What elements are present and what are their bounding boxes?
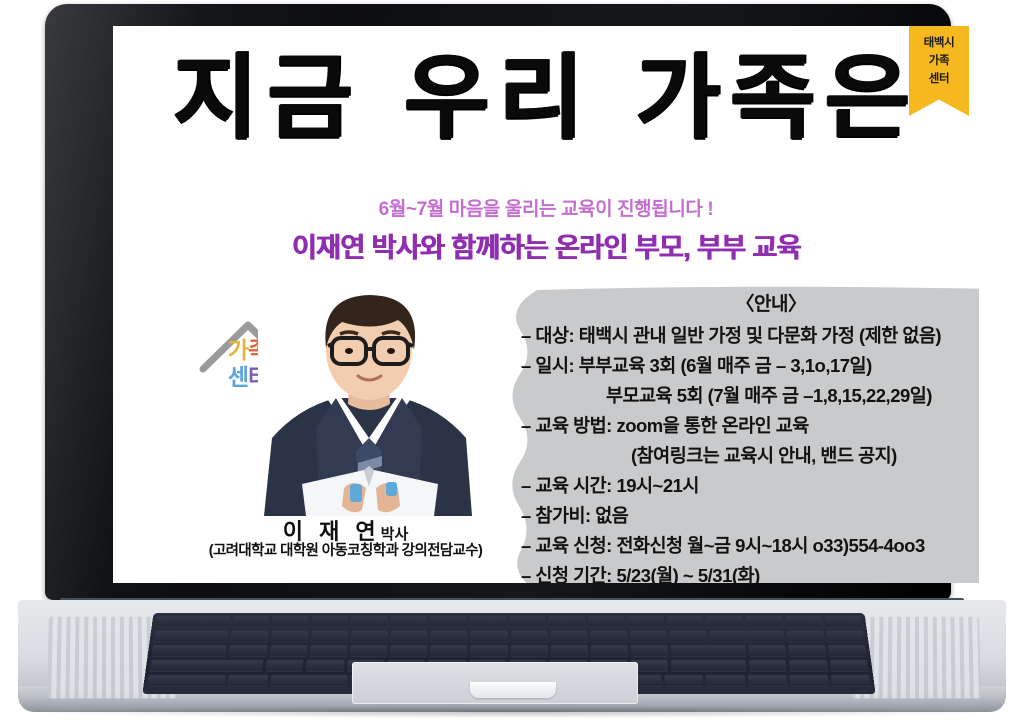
presenter-photo bbox=[258, 288, 480, 516]
laptop-shadow bbox=[30, 706, 994, 718]
laptop-latch-notch bbox=[470, 682, 556, 698]
info-line-target: – 대상: 태백시 관내 일반 가정 및 다문화 가정 (제한 없음) bbox=[521, 321, 979, 351]
info-line-schedule-2: 부모교육 5회 (7월 매주 금 –1,8,15,22,29일) bbox=[521, 381, 979, 411]
poster: 태백시 가족 센터 지금 우리 가족은 6월~7월 마음을 울리는 교육이 진행… bbox=[113, 26, 979, 583]
info-line-fee: – 참가비: 없음 bbox=[521, 501, 979, 531]
poster-subtitle-1: 6월~7월 마음을 울리는 교육이 진행됩니다 ! bbox=[113, 194, 979, 221]
info-line-time: – 교육 시간: 19시~21시 bbox=[521, 471, 979, 501]
laptop-screen: 태백시 가족 센터 지금 우리 가족은 6월~7월 마음을 울리는 교육이 진행… bbox=[113, 26, 979, 583]
info-heading: 〈안내〉 bbox=[521, 290, 979, 320]
keyboard-row[interactable] bbox=[152, 616, 867, 628]
poster-title: 지금 우리 가족은 bbox=[113, 32, 979, 164]
info-line-method-note: (참여링크는 교육시 안내, 밴드 공지) bbox=[521, 441, 979, 471]
info-line-method: – 교육 방법: zoom을 통한 온라인 교육 bbox=[521, 411, 979, 441]
poster-subtitle-2: 이재연 박사와 함께하는 온라인 부모, 부부 교육 bbox=[113, 226, 979, 265]
laptop-lid: 태백시 가족 센터 지금 우리 가족은 6월~7월 마음을 울리는 교육이 진행… bbox=[45, 4, 951, 600]
keyboard-row[interactable] bbox=[149, 631, 868, 643]
info-panel: 〈안내〉 – 대상: 태백시 관내 일반 가정 및 다문화 가정 (제한 없음)… bbox=[503, 284, 979, 583]
presenter-affiliation: (고려대학교 대학원 아동코칭학과 강의전담교수) bbox=[153, 539, 538, 560]
info-panel-content: 〈안내〉 – 대상: 태백시 관내 일반 가정 및 다문화 가정 (제한 없음)… bbox=[521, 290, 979, 583]
screenshot-root: 태백시 가족 센터 지금 우리 가족은 6월~7월 마음을 울리는 교육이 진행… bbox=[0, 0, 1024, 723]
info-line-schedule-1: – 일시: 부부교육 3회 (6월 매주 금 – 3,1o,17일) bbox=[521, 351, 979, 381]
keyboard-row[interactable] bbox=[147, 645, 870, 657]
info-line-period: – 신청 기간: 5/23(월) ~ 5/31(화) bbox=[521, 561, 979, 583]
info-line-apply: – 교육 신청: 전화신청 월~금 9시~18시 o33)554-4oo3 bbox=[521, 531, 979, 561]
